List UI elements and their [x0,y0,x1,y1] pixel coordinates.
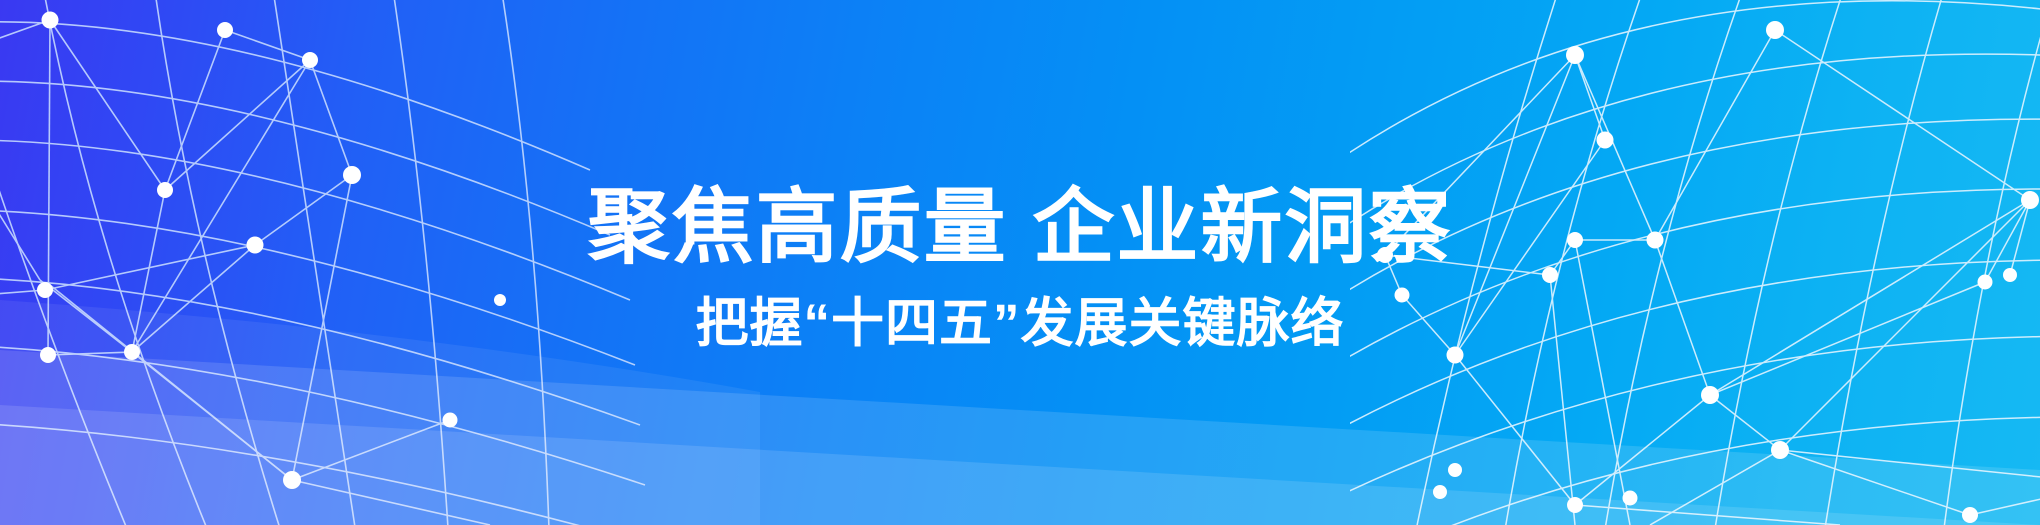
banner-title-sub: 把握“十四五”发展关键脉络 [696,297,1345,350]
hero-banner: 聚焦高质量 企业新洞察 把握“十四五”发展关键脉络 [0,0,2040,525]
banner-text-block: 聚焦高质量 企业新洞察 把握“十四五”发展关键脉络 [0,0,2040,525]
banner-title-main: 聚焦高质量 企业新洞察 [588,187,1453,269]
